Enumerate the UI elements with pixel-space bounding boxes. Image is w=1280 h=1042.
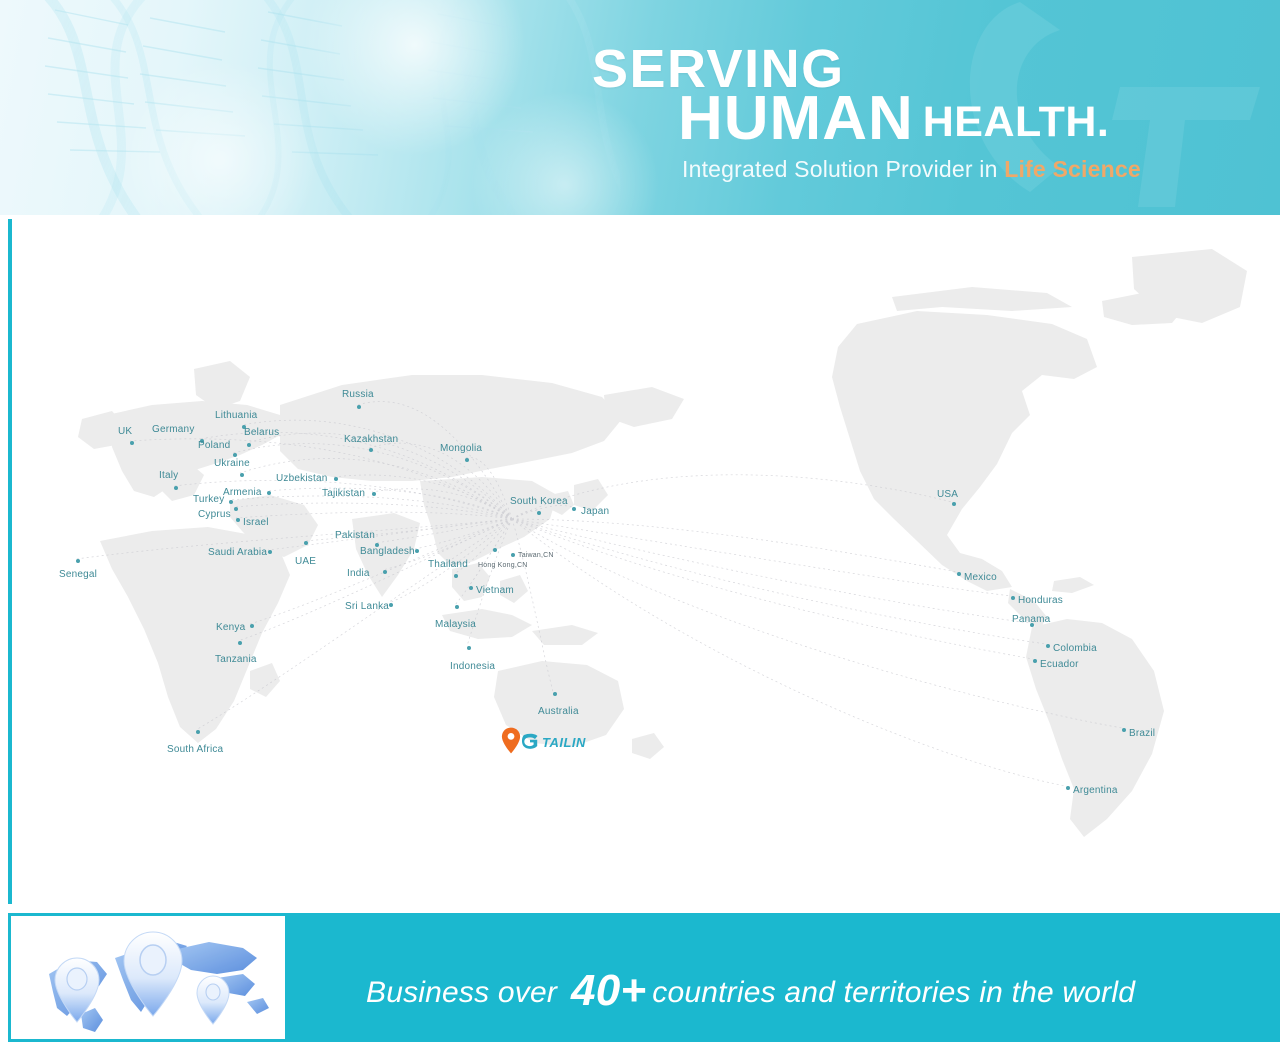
map-label-australia[interactable]: Australia	[538, 706, 579, 717]
map-dot-thailand[interactable]	[454, 574, 458, 578]
map-dot-south-africa[interactable]	[196, 730, 200, 734]
map-label-south-korea[interactable]: South Korea	[510, 496, 568, 507]
tailin-brand-wordmark: TAILIN	[522, 732, 594, 752]
map-dot-brazil[interactable]	[1122, 728, 1126, 732]
map-dot-russia[interactable]	[357, 405, 361, 409]
map-dot-tanzania[interactable]	[238, 641, 242, 645]
map-label-uae[interactable]: UAE	[295, 556, 316, 567]
map-dot-colombia[interactable]	[1046, 644, 1050, 648]
map-dot-taiwan-cn[interactable]	[511, 553, 515, 557]
map-dot-belarus[interactable]	[247, 443, 251, 447]
map-dot-argentina[interactable]	[1066, 786, 1070, 790]
map-label-turkey[interactable]: Turkey	[193, 494, 224, 505]
map-label-japan[interactable]: Japan	[581, 506, 609, 517]
map-label-mexico[interactable]: Mexico	[964, 572, 997, 583]
bottom-bar: Business over40+countries and territorie…	[0, 913, 1280, 1042]
map-dot-uae[interactable]	[304, 541, 308, 545]
map-label-argentina[interactable]: Argentina	[1073, 785, 1118, 796]
map-label-mongolia[interactable]: Mongolia	[440, 443, 482, 454]
stat-banner-text: Business over40+countries and territorie…	[366, 963, 1135, 1013]
map-dot-indonesia[interactable]	[467, 646, 471, 650]
map-dot-turkey[interactable]	[229, 500, 233, 504]
map-dot-italy[interactable]	[174, 486, 178, 490]
map-label-honduras[interactable]: Honduras	[1018, 595, 1063, 606]
header-text-block: SERVING HUMANHEALTH. Integrated Solution…	[0, 0, 1280, 215]
map-dot-ukraine[interactable]	[240, 473, 244, 477]
map-dot-senegal[interactable]	[76, 559, 80, 563]
map-dot-uzbekistan[interactable]	[334, 477, 338, 481]
map-dot-israel[interactable]	[236, 518, 240, 522]
map-dot-sri-lanka[interactable]	[389, 603, 393, 607]
map-label-thailand[interactable]: Thailand	[428, 559, 468, 570]
map-label-cyprus[interactable]: Cyprus	[198, 509, 231, 520]
map-label-panama[interactable]: Panama	[1012, 614, 1050, 625]
map-label-kazakhstan[interactable]: Kazakhstan	[344, 434, 398, 445]
world-map-panel: TAILIN UKGermanyLithuaniaBelarusPolandUk…	[8, 219, 1272, 904]
map-dot-south-korea[interactable]	[537, 511, 541, 515]
map-label-uzbekistan[interactable]: Uzbekistan	[276, 473, 327, 484]
map-label-taiwan-cn[interactable]: Taiwan,CN	[518, 552, 554, 559]
map-dot-tajikistan[interactable]	[372, 492, 376, 496]
map-label-ecuador[interactable]: Ecuador	[1040, 659, 1079, 670]
map-dot-malaysia[interactable]	[455, 605, 459, 609]
map-label-kenya[interactable]: Kenya	[216, 622, 245, 633]
world-map-pins-thumbnail	[8, 913, 288, 1042]
map-dot-india[interactable]	[383, 570, 387, 574]
map-dot-usa[interactable]	[952, 502, 956, 506]
map-label-belarus[interactable]: Belarus	[244, 427, 279, 438]
tailin-hq-logo: TAILIN	[501, 727, 601, 759]
hq-location-pin-icon	[501, 727, 521, 754]
tagline-highlight: Life Science	[1004, 156, 1141, 182]
world-map-graphic	[12, 219, 1276, 904]
banner-country-count: 40+	[571, 966, 646, 1015]
map-label-colombia[interactable]: Colombia	[1053, 643, 1097, 654]
map-label-uk[interactable]: UK	[118, 426, 132, 437]
map-dot-australia[interactable]	[553, 692, 557, 696]
map-dot-ecuador[interactable]	[1033, 659, 1037, 663]
map-dot-cyprus[interactable]	[234, 507, 238, 511]
map-dot-mexico[interactable]	[957, 572, 961, 576]
svg-text:TAILIN: TAILIN	[542, 735, 586, 750]
header-word-human: HUMAN	[678, 84, 914, 153]
map-label-india[interactable]: India	[347, 568, 370, 579]
map-dot-kenya[interactable]	[250, 624, 254, 628]
map-label-tajikistan[interactable]: Tajikistan	[322, 488, 365, 499]
map-label-ukraine[interactable]: Ukraine	[214, 458, 250, 469]
map-label-usa[interactable]: USA	[937, 489, 958, 500]
map-label-lithuania[interactable]: Lithuania	[215, 410, 257, 421]
map-label-senegal[interactable]: Senegal	[59, 569, 97, 580]
world-map-pins-graphic	[11, 916, 285, 1039]
map-dot-vietnam[interactable]	[469, 586, 473, 590]
map-label-sri-lanka[interactable]: Sri Lanka	[345, 601, 389, 612]
page-header: SERVING HUMANHEALTH. Integrated Solution…	[0, 0, 1280, 215]
map-label-malaysia[interactable]: Malaysia	[435, 619, 476, 630]
map-label-germany[interactable]: Germany	[152, 424, 195, 435]
map-label-poland[interactable]: Poland	[198, 440, 230, 451]
header-tagline: Integrated Solution Provider in Life Sci…	[682, 156, 1141, 183]
map-dot-armenia[interactable]	[267, 491, 271, 495]
stat-banner: Business over40+countries and territorie…	[288, 913, 1280, 1042]
map-label-italy[interactable]: Italy	[159, 470, 178, 481]
map-label-pakistan[interactable]: Pakistan	[335, 530, 375, 541]
map-label-hong-kong-cn[interactable]: Hong Kong,CN	[478, 562, 527, 569]
map-label-tanzania[interactable]: Tanzania	[215, 654, 257, 665]
map-label-israel[interactable]: Israel	[243, 517, 269, 528]
map-dot-bangladesh[interactable]	[415, 549, 419, 553]
map-label-russia[interactable]: Russia	[342, 389, 374, 400]
banner-prefix: Business over	[366, 976, 557, 1009]
map-label-vietnam[interactable]: Vietnam	[476, 585, 514, 596]
map-label-brazil[interactable]: Brazil	[1129, 728, 1155, 739]
map-label-bangladesh[interactable]: Bangladesh	[360, 546, 415, 557]
banner-suffix: countries and territories in the world	[652, 976, 1135, 1009]
map-label-saudi-arabia[interactable]: Saudi Arabia	[208, 547, 267, 558]
tagline-prefix: Integrated Solution Provider in	[682, 156, 1004, 182]
map-dot-saudi-arabia[interactable]	[268, 550, 272, 554]
map-dot-mongolia[interactable]	[465, 458, 469, 462]
map-dot-kazakhstan[interactable]	[369, 448, 373, 452]
header-word-health: HEALTH.	[923, 98, 1110, 146]
map-label-indonesia[interactable]: Indonesia	[450, 661, 495, 672]
header-line-human-health: HUMANHEALTH.	[678, 88, 1109, 150]
map-dot-uk[interactable]	[130, 441, 134, 445]
map-dot-japan[interactable]	[572, 507, 576, 511]
map-label-south-africa[interactable]: South Africa	[167, 744, 223, 755]
map-dot-poland[interactable]	[233, 453, 237, 457]
map-dot-hong-kong-cn[interactable]	[493, 548, 497, 552]
map-label-armenia[interactable]: Armenia	[223, 487, 262, 498]
map-dot-honduras[interactable]	[1011, 596, 1015, 600]
